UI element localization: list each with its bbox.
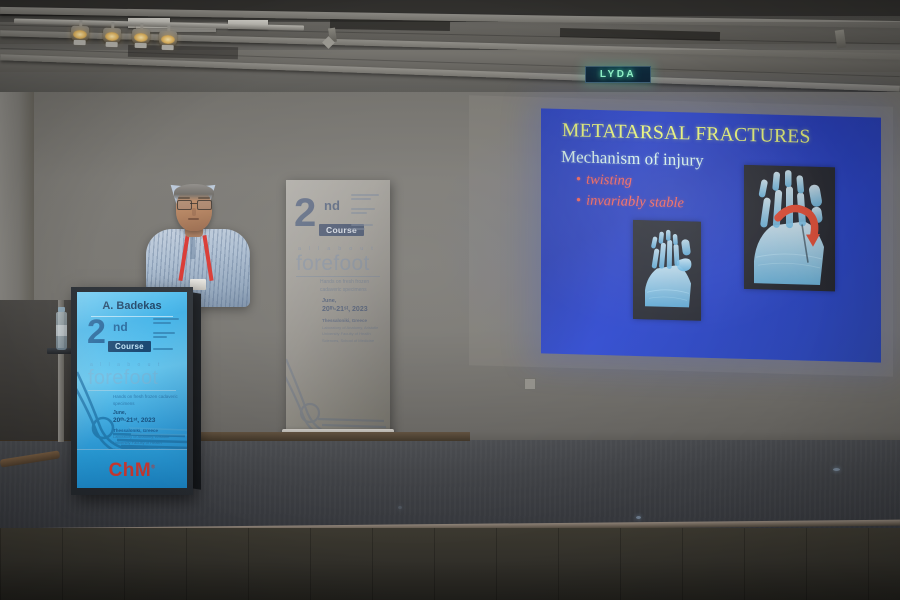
presentation-slide: METATARSAL FRACTURES Mechanism of injury… [541, 108, 881, 362]
list-item: •invariably stable [576, 192, 684, 212]
rotation-arrow-icon [744, 165, 835, 291]
banner-kicker: a l l a b o u t [298, 246, 376, 252]
bullet-text: twisting [586, 172, 632, 189]
list-item: •twisting [576, 171, 684, 191]
slide-bullet-list: •twisting •invariably stable [576, 171, 684, 216]
mouth [188, 218, 199, 220]
floor-light-reflection [398, 506, 402, 509]
banner-date-label: June, [322, 298, 336, 304]
podium-date-label: June, [113, 410, 126, 416]
ceiling [0, 0, 900, 92]
water-bottle[interactable] [56, 312, 67, 350]
floor-light-reflection [833, 468, 840, 471]
speaker-person [140, 183, 256, 303]
banner-date-value: 20ᵗʰ-21ˢᵗ, 2023 [322, 306, 368, 313]
podium-edition-number: 2 [87, 318, 106, 347]
podium-sponsor-logos [153, 318, 183, 352]
podium-kicker: a l l a b o u t [90, 362, 162, 368]
illuminated-exit-sign: LYDA [585, 66, 651, 83]
eyebrow [198, 197, 210, 199]
podium-tagline: Hands on fresh frozen cadaveric specimen… [113, 393, 187, 407]
banner-tagline: Hands on fresh frozen cadaveric specimen… [320, 279, 390, 294]
podium-course-badge: Course [108, 341, 151, 352]
slide-subtitle: Mechanism of injury [561, 147, 704, 171]
rollup-banner: 2 nd Course a l l a b o u t forefoot Han… [286, 180, 390, 438]
banner-place-label: Thessaloniki, Greece [322, 318, 367, 323]
podium-date-value: 20ᵗʰ-21ˢᵗ, 2023 [113, 417, 155, 424]
podium-place-text: Laboratory of Anatomy, Aristotle Univers… [113, 434, 173, 453]
wall-outlet[interactable] [524, 378, 536, 390]
lecture-hall-photo: LYDA METATARSAL FRACTURES Mechanism of i… [0, 0, 900, 600]
podium-brand-logo: ChM® [77, 460, 187, 482]
podium-front-panel: A. Badekas 2 nd Course a l l a b o u t f… [77, 292, 187, 488]
bullet-marker: • [576, 171, 581, 187]
banner-edition-suffix: nd [324, 198, 340, 213]
banner-rule [296, 276, 380, 277]
track-spotlight [70, 20, 91, 47]
podium-foot-graphic [77, 368, 187, 460]
podium-brand-band [77, 449, 187, 488]
track-spotlight [102, 22, 123, 49]
panel-rule [91, 316, 173, 317]
podium-place-label: Thessaloniki, Greece [113, 428, 158, 433]
foot-xray-left-image: www [633, 220, 701, 321]
banner-headline: forefoot [296, 252, 370, 276]
banner-sponsor-logos [351, 194, 385, 232]
stage-front-panel [0, 528, 900, 600]
floor-light-reflection [636, 516, 641, 519]
podium-rule [88, 390, 176, 391]
bottle-cap [58, 307, 65, 312]
nose [192, 208, 196, 216]
sign-label: LYDA [600, 69, 636, 80]
bullet-text: invariably stable [586, 193, 684, 212]
bullet-marker: • [576, 192, 581, 208]
speaker-name-label: A. Badekas [77, 300, 187, 312]
bottle-label [56, 325, 67, 336]
banner-edition-number: 2 [294, 196, 316, 230]
track-spotlight [158, 25, 179, 52]
podium-headline: forefoot [88, 367, 158, 390]
eyebrow [178, 197, 190, 199]
banner-course-badge: Course [319, 224, 364, 236]
slide-title: METATARSAL FRACTURES [562, 120, 811, 149]
podium-edition-suffix: nd [113, 320, 128, 334]
track-spotlight [131, 23, 152, 50]
banner-place-text: Laboratory of Anatomy, Aristotle Univers… [322, 325, 384, 344]
banner-foot-graphic [286, 351, 390, 438]
